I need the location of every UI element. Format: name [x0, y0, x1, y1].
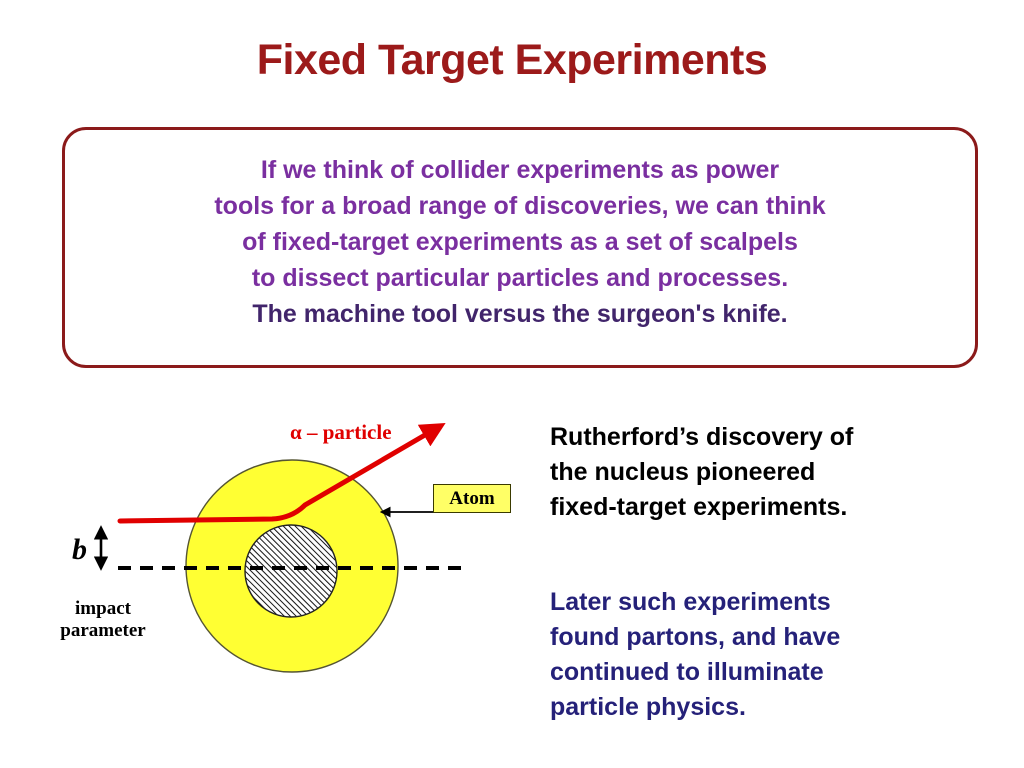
- quote-text-block: If we think of collider experiments as p…: [65, 152, 975, 332]
- quote-line-3: of fixed-target experiments as a set of …: [65, 224, 975, 260]
- atom-label-box: Atom: [433, 484, 511, 513]
- impact-parameter-symbol: b: [72, 533, 87, 567]
- quote-callout-box: If we think of collider experiments as p…: [62, 127, 978, 368]
- rutherford-paragraph-line-3: fixed-target experiments.: [550, 490, 1000, 525]
- partons-paragraph-line-4: particle physics.: [550, 690, 1000, 725]
- partons-paragraph-line-1: Later such experiments: [550, 585, 1000, 620]
- impact-parameter-caption-line-1: impact: [8, 598, 198, 620]
- partons-paragraph: Later such experiments found partons, an…: [550, 585, 1000, 725]
- impact-parameter-caption-line-2: parameter: [8, 620, 198, 642]
- quote-line-5: The machine tool versus the surgeon's kn…: [65, 296, 975, 332]
- atom-label-text: Atom: [449, 489, 494, 508]
- yellow-circle-icon: [186, 460, 398, 672]
- alpha-particle-label: α – particle: [290, 420, 392, 445]
- quote-line-2: tools for a broad range of discoveries, …: [65, 188, 975, 224]
- partons-paragraph-line-3: continued to illuminate: [550, 655, 1000, 690]
- rutherford-paragraph-line-2: the nucleus pioneered: [550, 455, 1000, 490]
- impact-parameter-caption: impact parameter: [8, 598, 198, 642]
- quote-line-4: to dissect particular particles and proc…: [65, 260, 975, 296]
- hatched-circle-icon: [245, 525, 337, 617]
- page-title: Fixed Target Experiments: [0, 36, 1024, 85]
- quote-line-1: If we think of collider experiments as p…: [65, 152, 975, 188]
- partons-paragraph-line-2: found partons, and have: [550, 620, 1000, 655]
- rutherford-paragraph: Rutherford’s discovery of the nucleus pi…: [550, 420, 1000, 525]
- rutherford-paragraph-line-1: Rutherford’s discovery of: [550, 420, 1000, 455]
